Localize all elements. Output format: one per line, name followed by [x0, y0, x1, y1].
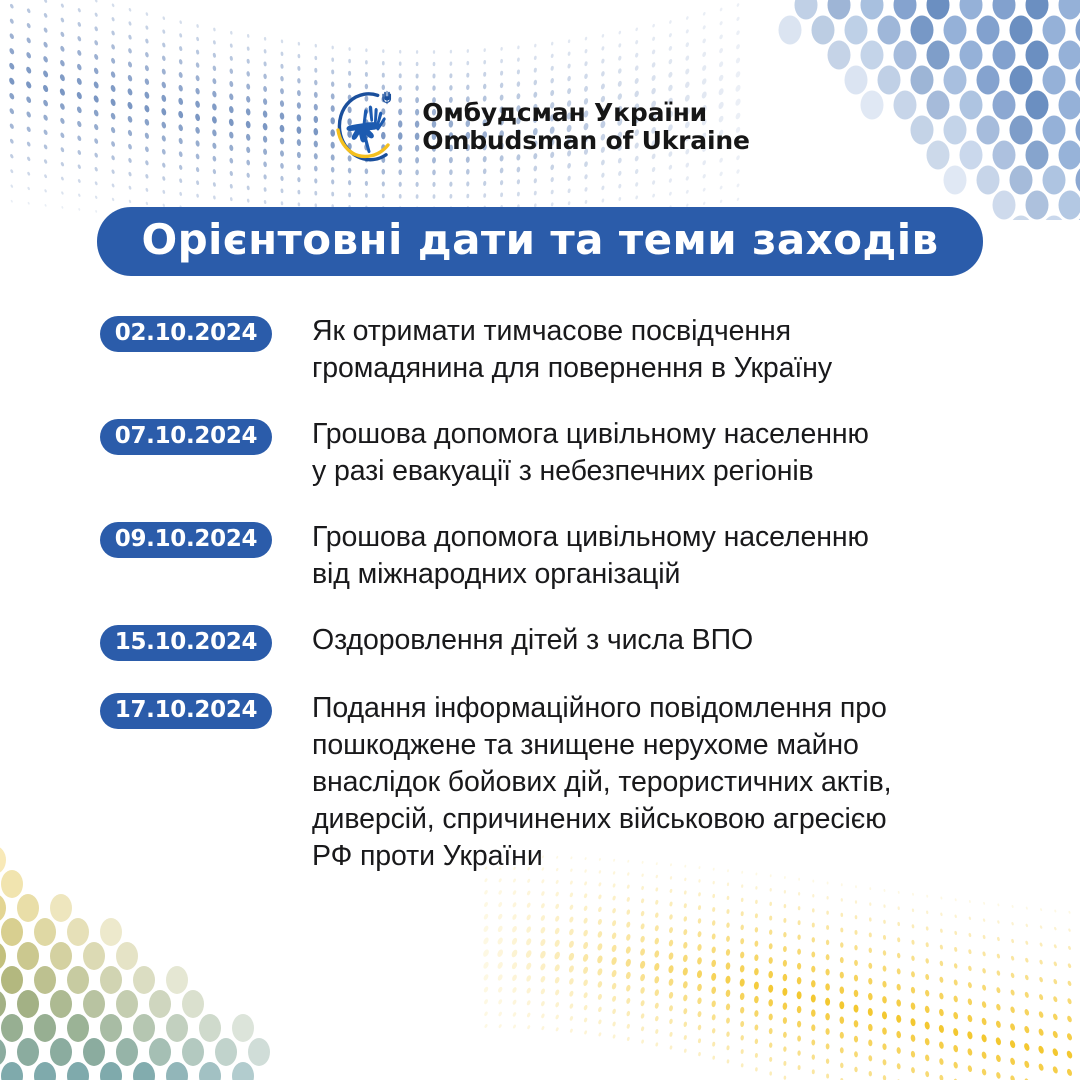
topic-line: у разі евакуації з небезпечних регіонів — [312, 453, 869, 490]
date-badge: 17.10.2024 — [100, 693, 272, 729]
schedule-row: 15.10.2024Оздоровлення дітей з числа ВПО — [100, 622, 1000, 661]
schedule-row-topic: Як отримати тимчасове посвідченнягромадя… — [312, 313, 832, 387]
brand-header: Омбудсман України Ombudsman of Ukraine — [0, 88, 1080, 166]
date-badge: 02.10.2024 — [100, 316, 272, 352]
schedule-row: 02.10.2024Як отримати тимчасове посвідче… — [100, 313, 1000, 387]
topic-line: РФ проти України — [312, 838, 891, 875]
date-badge: 07.10.2024 — [100, 419, 272, 455]
schedule-row-topic: Грошова допомога цивільному населеннювід… — [312, 519, 869, 593]
topic-line: Оздоровлення дітей з числа ВПО — [312, 622, 753, 659]
schedule-row: 09.10.2024Грошова допомога цивільному на… — [100, 519, 1000, 593]
topic-line: Подання інформаційного повідомлення про — [312, 690, 891, 727]
topic-line: громадянина для повернення в Україну — [312, 350, 832, 387]
logo-name-uk: Омбудсман України — [422, 99, 749, 127]
date-badge: 15.10.2024 — [100, 625, 272, 661]
logo-wordmark: Омбудсман України Ombudsman of Ukraine — [422, 99, 749, 155]
schedule-row: 07.10.2024Грошова допомога цивільному на… — [100, 416, 1000, 490]
topic-line: Грошова допомога цивільному населенню — [312, 416, 869, 453]
date-badge: 09.10.2024 — [100, 522, 272, 558]
page-title: Орієнтовні дати та теми заходів — [97, 207, 982, 276]
topic-line: внаслідок бойових дій, терористичних акт… — [312, 764, 891, 801]
schedule-row-topic: Оздоровлення дітей з числа ВПО — [312, 622, 753, 659]
schedule-row-topic: Грошова допомога цивільному населеннюу р… — [312, 416, 869, 490]
ombudsman-emblem-icon — [330, 88, 406, 166]
topic-line: Грошова допомога цивільному населенню — [312, 519, 869, 556]
page-title-wrap: Орієнтовні дати та теми заходів — [0, 207, 1080, 276]
schedule-row: 17.10.2024Подання інформаційного повідом… — [100, 690, 1000, 875]
logo-lockup: Омбудсман України Ombudsman of Ukraine — [330, 88, 749, 166]
topic-line: диверсій, спричинених військовою агресіє… — [312, 801, 891, 838]
logo-name-en: Ombudsman of Ukraine — [422, 127, 749, 155]
schedule-row-topic: Подання інформаційного повідомлення проп… — [312, 690, 891, 875]
topic-line: Як отримати тимчасове посвідчення — [312, 313, 832, 350]
schedule-list: 02.10.2024Як отримати тимчасове посвідче… — [100, 313, 1000, 876]
topic-line: пошкоджене та знищене нерухоме майно — [312, 727, 891, 764]
topic-line: від міжнародних організацій — [312, 556, 869, 593]
infographic-page: Омбудсман України Ombudsman of Ukraine О… — [0, 0, 1080, 1080]
